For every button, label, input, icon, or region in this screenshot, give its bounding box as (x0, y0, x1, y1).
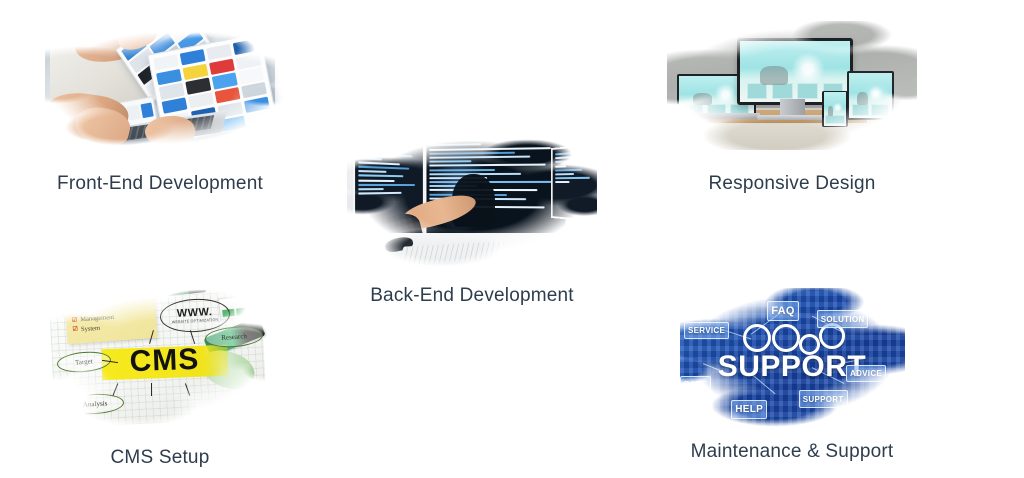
service-label-cms-setup: CMS Setup (111, 448, 210, 467)
back-end-development-image (347, 132, 597, 272)
screen-thumbnails (852, 104, 889, 116)
cms-setup-image: ☑Content ☑Management ☑System WWW. WEBSIT… (48, 288, 273, 428)
gear-icon (743, 324, 771, 352)
support-tag-advice: ADVICE (846, 365, 886, 382)
support-tag-support: SUPPORT (799, 390, 848, 408)
service-card-front-end-development[interactable]: Front-End Development (20, 18, 300, 193)
support-tag-care: CARE (680, 376, 712, 393)
service-label-responsive-design: Responsive Design (708, 174, 875, 193)
monitor-stand-neck (780, 99, 805, 116)
cms-headline: CMS (105, 343, 223, 379)
front-end-development-image (35, 18, 285, 158)
responsive-laptop-base (670, 113, 760, 119)
service-card-back-end-development[interactable]: Back-End Development (332, 132, 612, 305)
check-icon: ☑ (72, 326, 78, 335)
maintenance-support-image: SUPPORT FAQ SOLUTION SERVICE ADVICE SUPP… (680, 288, 905, 428)
phone-screen (824, 92, 847, 126)
back-end-monitor-main (425, 132, 568, 244)
service-card-cms-setup[interactable]: ☑Content ☑Management ☑System WWW. WEBSIT… (20, 288, 300, 467)
gear-icon (772, 324, 800, 352)
support-tag-faq: FAQ (767, 301, 799, 321)
monitor-stand-foot (757, 115, 827, 121)
services-canvas: Front-End Development (0, 0, 1024, 478)
service-card-maintenance-support[interactable]: SUPPORT FAQ SOLUTION SERVICE ADVICE SUPP… (652, 288, 932, 461)
check-icon: ☑ (71, 307, 77, 316)
responsive-design-image (667, 18, 917, 158)
service-label-back-end-development: Back-End Development (370, 286, 574, 305)
code-lines (426, 132, 565, 242)
check-icon: ☑ (71, 316, 77, 325)
responsive-tablet (847, 71, 894, 120)
service-card-responsive-design[interactable]: Responsive Design (652, 18, 932, 193)
cms-arrow (151, 383, 152, 396)
support-tag-solution: SOLUTION (817, 310, 869, 328)
service-label-maintenance-support: Maintenance & Support (691, 442, 894, 461)
screen-thumbnails (825, 115, 845, 124)
support-tag-service: SERVICE (684, 322, 729, 339)
back-end-monitor-right (551, 144, 597, 223)
support-tag-help: HELP (731, 400, 767, 419)
tablet-screen (849, 73, 892, 118)
responsive-phone (822, 91, 848, 128)
cms-sticky-note: ☑Content ☑Management ☑System (64, 296, 157, 344)
service-label-front-end-development: Front-End Development (57, 174, 263, 193)
code-lines (553, 146, 597, 220)
